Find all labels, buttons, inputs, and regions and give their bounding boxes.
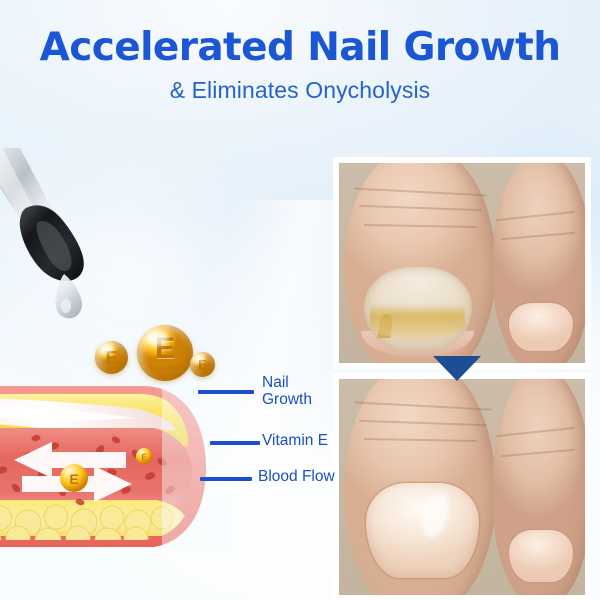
- svg-text:E: E: [69, 471, 78, 487]
- healthy-nail: [366, 483, 479, 578]
- page-subtitle: & Eliminates Onycholysis: [0, 79, 600, 102]
- leader-line-nail-growth: [198, 390, 254, 394]
- before-photo: [334, 158, 590, 368]
- header: Accelerated Nail Growth & Eliminates Ony…: [0, 28, 600, 102]
- label-nail-growth-line2: Growth: [262, 391, 312, 408]
- second-toe-nail: [509, 303, 573, 351]
- down-arrow-icon: [433, 356, 481, 381]
- nail-cross-section-diagram: E E E E: [0, 372, 234, 547]
- capsule-gloss: [100, 344, 113, 353]
- leader-line-blood-flow: [200, 477, 252, 481]
- damaged-nail: [364, 267, 472, 351]
- before-photo-image: [339, 163, 585, 363]
- leader-line-vitamin-e: [210, 441, 260, 445]
- nail-polish-brush: [0, 148, 146, 348]
- after-photo-image: [339, 379, 585, 595]
- page-title: Accelerated Nail Growth: [0, 28, 600, 67]
- after-photo: [334, 374, 590, 600]
- svg-text:E: E: [141, 453, 147, 462]
- advertisement-banner: Accelerated Nail Growth & Eliminates Ony…: [0, 0, 600, 600]
- label-vitamin-e: Vitamin E: [262, 432, 328, 449]
- capsule-small: E: [190, 352, 215, 377]
- label-blood-flow: Blood Flow: [258, 468, 335, 485]
- second-toe-nail: [509, 530, 573, 582]
- capsule-large: E VITAMIN: [137, 325, 193, 381]
- capsule-word: VITAMIN: [150, 365, 180, 372]
- capsule-medium: E: [95, 341, 128, 374]
- label-nail-growth: Nail Growth: [262, 374, 312, 408]
- label-nail-growth-line1: Nail: [262, 374, 312, 391]
- capsule-gloss: [194, 355, 204, 362]
